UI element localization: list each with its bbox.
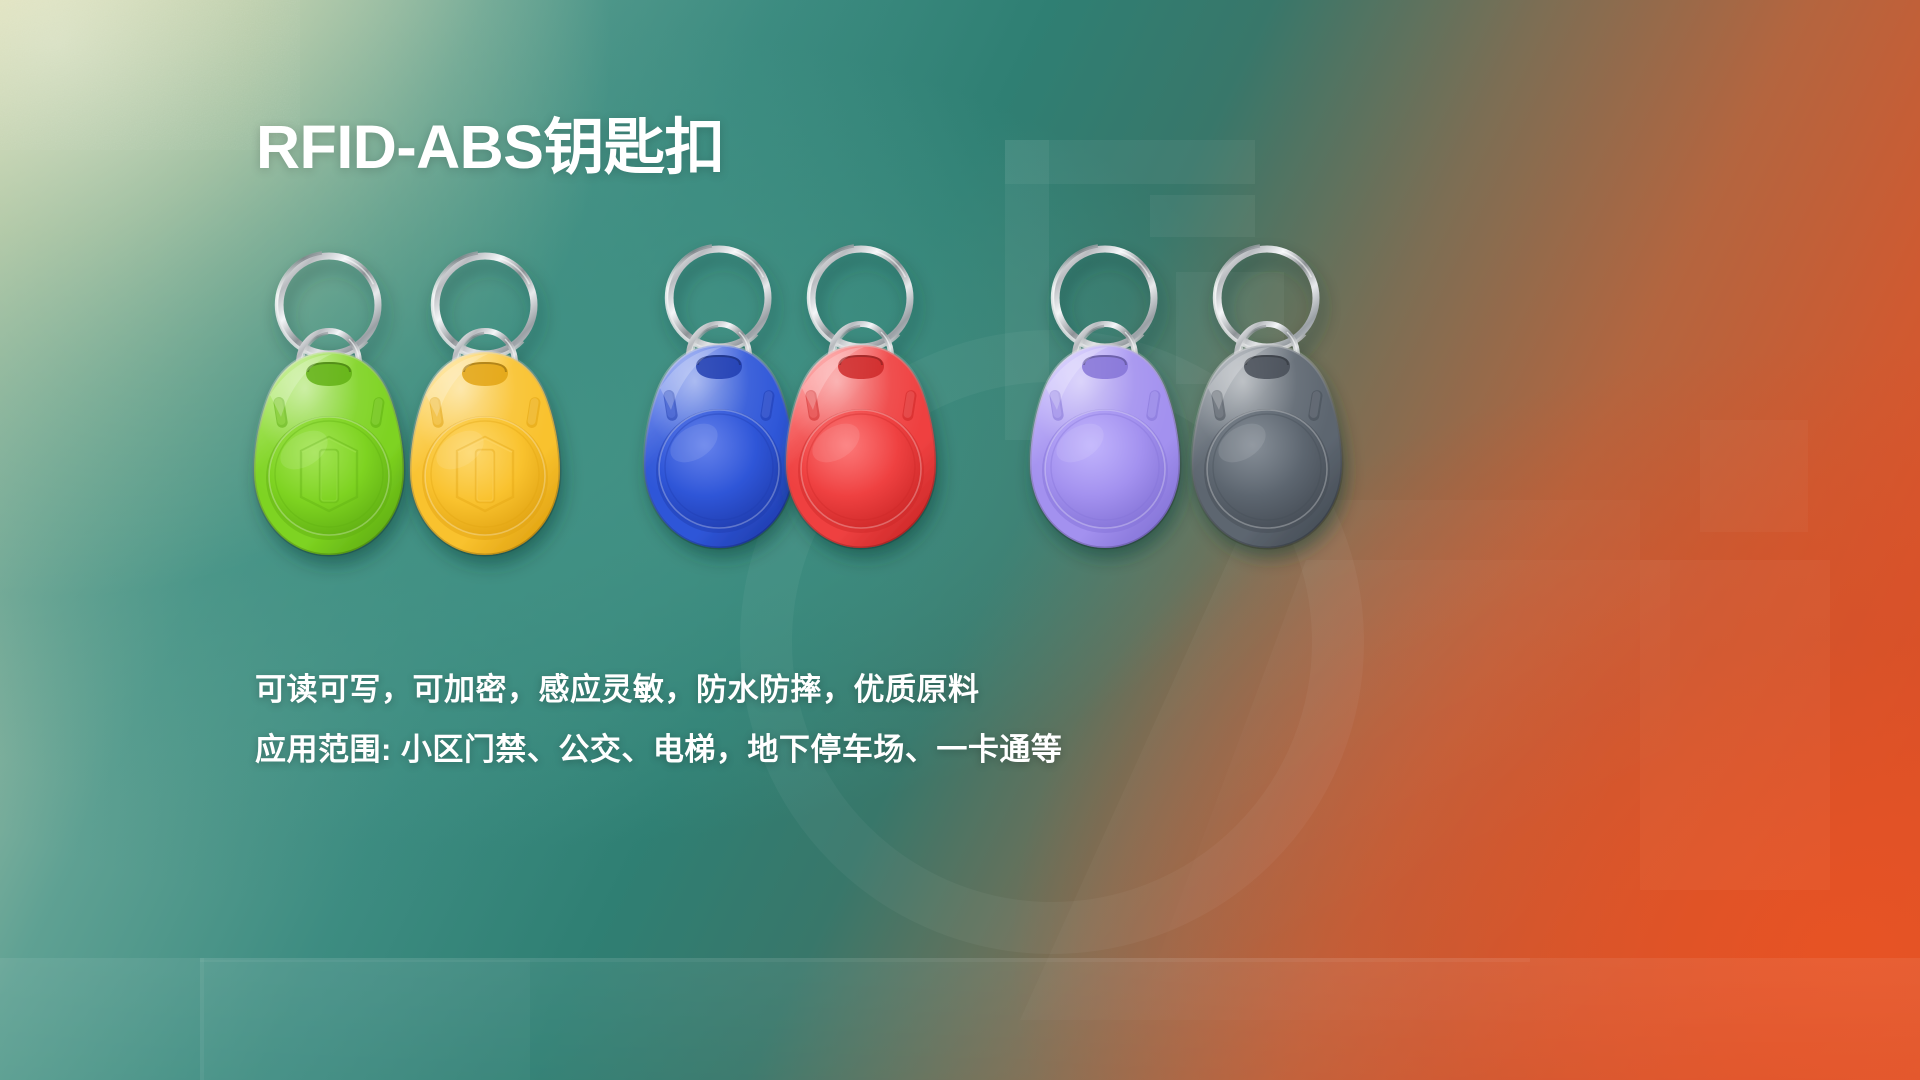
fob-body xyxy=(786,345,936,548)
product-banner: RFID-ABS钥匙扣 可读可写，可加密，感应灵敏，防水防摔，优质原料 应用范围… xyxy=(0,0,1920,1080)
split-keyring xyxy=(1053,246,1158,351)
keyfob-green xyxy=(240,245,418,575)
split-keyring xyxy=(277,253,382,358)
page-title: RFID-ABS钥匙扣 xyxy=(256,117,725,178)
split-keyring xyxy=(667,246,772,351)
tagline-features: 可读可写，可加密，感应灵敏，防水防摔，优质原料 xyxy=(255,664,980,709)
fob-body xyxy=(1192,345,1342,548)
fob-body xyxy=(254,352,404,555)
watermark-square-c xyxy=(1700,420,1808,532)
watermark-bar-small xyxy=(1150,195,1255,237)
split-keyring xyxy=(809,246,914,351)
floor-plate xyxy=(0,958,1920,1080)
keyfob-gray xyxy=(1178,238,1356,568)
keyfob-yellow xyxy=(396,245,574,575)
keyfob-purple xyxy=(1016,238,1194,568)
fob-body xyxy=(1030,345,1180,548)
tagline-applications: 应用范围: 小区门禁、公交、电梯，地下停车场、一卡通等 xyxy=(255,724,1062,769)
split-keyring xyxy=(433,253,538,358)
fob-body xyxy=(410,352,560,555)
keyfob-red xyxy=(772,238,950,568)
split-keyring xyxy=(1215,246,1320,351)
